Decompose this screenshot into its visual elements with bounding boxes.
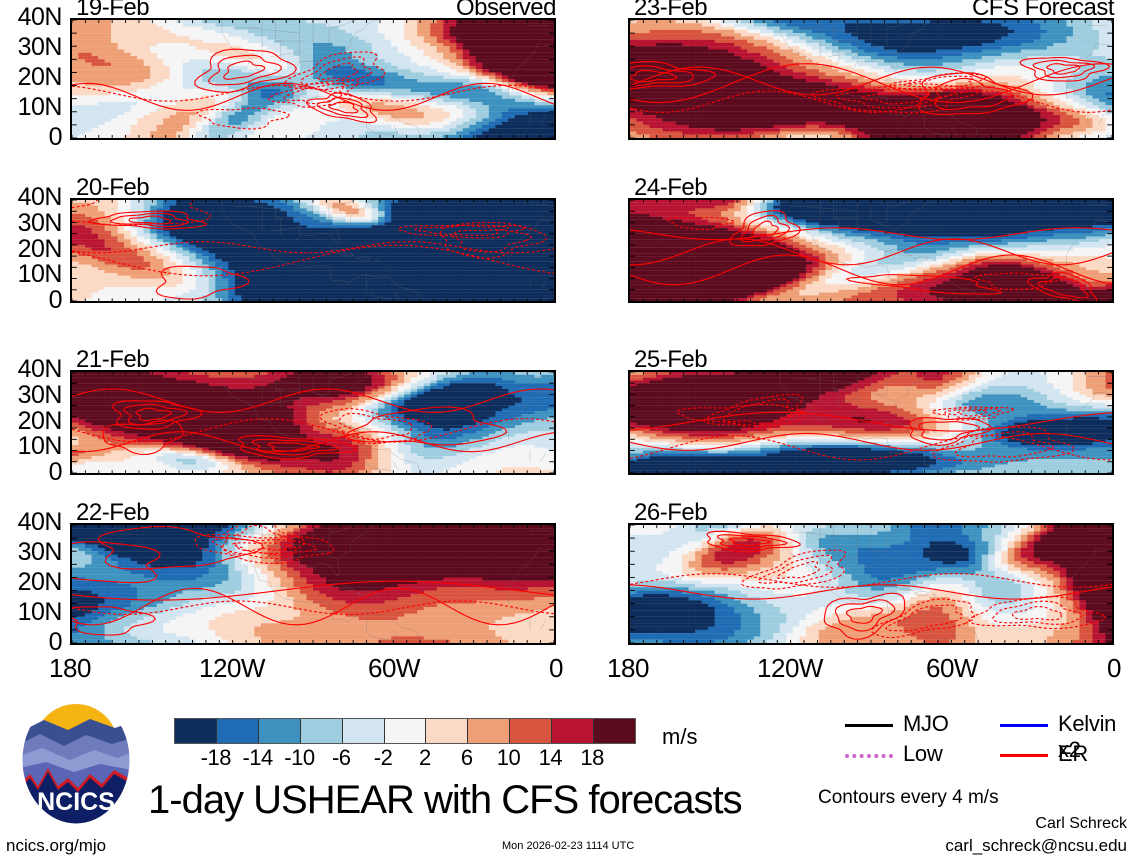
y-axis-tick-label: 0 xyxy=(0,125,62,150)
colorbar-units-label: m/s xyxy=(662,724,697,750)
map-panel xyxy=(628,523,1114,645)
y-axis-tick-label: 20N xyxy=(0,237,62,262)
y-axis-tick-label: 30N xyxy=(0,383,62,408)
y-axis-tick-label: 40N xyxy=(0,510,62,535)
timestamp: Mon 2026-02-23 1114 UTC xyxy=(502,840,634,852)
colorbar-swatch xyxy=(467,719,509,743)
colorbar-swatch xyxy=(258,719,300,743)
author-email: carl_schreck@ncsu.edu xyxy=(945,836,1127,856)
legend-label: ER xyxy=(1058,741,1088,767)
x-axis-tick-label: 180 xyxy=(568,653,688,684)
y-axis-tick-label: 30N xyxy=(0,211,62,236)
y-axis-tick-label: 20N xyxy=(0,65,62,90)
logo-text: NCICS xyxy=(37,788,115,816)
colorbar xyxy=(174,718,636,744)
y-axis-tick-label: 0 xyxy=(0,630,62,655)
y-axis-tick-label: 40N xyxy=(0,185,62,210)
colorbar-swatch xyxy=(300,719,342,743)
y-axis-tick-label: 0 xyxy=(0,460,62,485)
colorbar-swatch xyxy=(551,719,593,743)
map-panel xyxy=(628,198,1114,303)
map-panel xyxy=(628,370,1114,475)
y-axis-tick-label: 10N xyxy=(0,95,62,120)
y-axis-tick-label: 20N xyxy=(0,409,62,434)
colorbar-swatch xyxy=(342,719,384,743)
colorbar-tick-label: 18 xyxy=(562,745,622,771)
legend-line-er xyxy=(1000,754,1048,757)
colorbar-swatch xyxy=(425,719,467,743)
legend-line-low xyxy=(845,754,893,758)
colorbar-swatch xyxy=(175,719,216,743)
legend-label: Low xyxy=(903,741,942,767)
x-axis-tick-label: 120W xyxy=(730,653,850,684)
y-axis-tick-label: 30N xyxy=(0,35,62,60)
x-axis-tick-label: 60W xyxy=(892,653,1012,684)
x-axis-tick-label: 180 xyxy=(10,653,130,684)
ncics-logo: NCICS xyxy=(20,694,132,829)
map-panel xyxy=(628,18,1114,140)
y-axis-tick-label: 10N xyxy=(0,262,62,287)
map-panel xyxy=(70,198,556,303)
x-axis-tick-label: 0 xyxy=(1054,653,1135,684)
colorbar-swatch xyxy=(216,719,258,743)
y-axis-tick-label: 40N xyxy=(0,357,62,382)
map-panel xyxy=(70,18,556,140)
legend-line-mjo xyxy=(845,724,893,727)
map-panel xyxy=(70,523,556,645)
figure-title: 1-day USHEAR with CFS forecasts xyxy=(148,778,742,823)
legend-label: MJO xyxy=(903,711,949,737)
colorbar-swatch xyxy=(593,719,635,743)
legend-line-kelvin-x2 xyxy=(1000,724,1048,727)
colorbar-swatch xyxy=(509,719,551,743)
colorbar-swatch xyxy=(384,719,426,743)
y-axis-tick-label: 20N xyxy=(0,570,62,595)
contours-note: Contours every 4 m/s xyxy=(818,787,999,809)
x-axis-tick-label: 120W xyxy=(172,653,292,684)
site-url: ncics.org/mjo xyxy=(6,836,106,856)
y-axis-tick-label: 30N xyxy=(0,540,62,565)
y-axis-tick-label: 10N xyxy=(0,434,62,459)
y-axis-tick-label: 40N xyxy=(0,5,62,30)
y-axis-tick-label: 10N xyxy=(0,600,62,625)
x-axis-tick-label: 60W xyxy=(334,653,454,684)
author-name: Carl Schreck xyxy=(1035,815,1127,833)
y-axis-tick-label: 0 xyxy=(0,288,62,313)
map-panel xyxy=(70,370,556,475)
